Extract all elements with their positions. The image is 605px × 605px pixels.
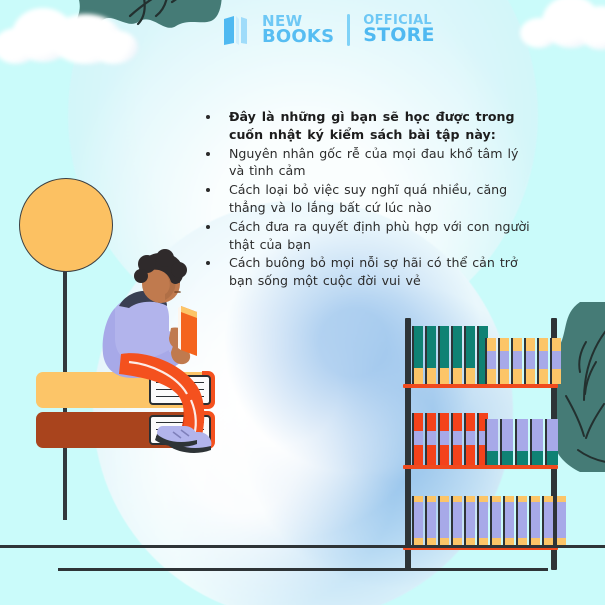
brand-name: NEW BOOKS [262, 15, 334, 46]
poster-canvas: NEW BOOKS OFFICIAL STORE Đây là những gì… [0, 0, 605, 605]
list-item-text: Đây là những gì bạn sẽ học được trong cu… [229, 108, 538, 144]
shelf-middle-group-1 [412, 413, 490, 465]
list-item: Cách buông bỏ mọi nỗi sợ hãi có thể cản … [198, 254, 538, 290]
list-item: Cách loại bỏ việc suy nghĩ quá nhiều, că… [198, 181, 538, 217]
benefits-list: Đây là những gì bạn sẽ học được trong cu… [198, 108, 538, 291]
cloud-top-right [520, 0, 605, 60]
shelf-post-left [405, 318, 411, 570]
list-item: Cách đưa ra quyết định phù hợp với con n… [198, 218, 538, 254]
shelf-top-group-2 [485, 338, 563, 384]
tag-line2: STORE [363, 27, 434, 45]
list-item-text: Nguyên nhân gốc rễ của mọi đau khổ tâm l… [229, 145, 538, 181]
ground-line-near [58, 568, 548, 571]
bookshelf [400, 318, 560, 570]
bullet-marker-icon [198, 145, 229, 156]
shelf-middle-group-2 [485, 419, 560, 465]
brand-line2: BOOKS [262, 29, 334, 46]
logo-divider [347, 14, 350, 46]
shelf-top-group-1 [412, 326, 490, 384]
list-item-text: Cách buông bỏ mọi nỗi sợ hãi có thể cản … [229, 254, 538, 290]
official-store-tag: OFFICIAL STORE [363, 15, 434, 45]
list-item: Đây là những gì bạn sẽ học được trong cu… [198, 108, 538, 144]
bullet-marker-icon [198, 108, 229, 119]
list-item: Nguyên nhân gốc rễ của mọi đau khổ tâm l… [198, 145, 538, 181]
shelf-rail-middle [403, 465, 558, 469]
bullet-marker-icon [198, 218, 229, 229]
ground-line-far [0, 545, 605, 548]
shelf-rail-top [403, 384, 558, 388]
bullet-marker-icon [198, 181, 229, 192]
open-book-icon [222, 15, 249, 46]
shelf-bottom-group-1 [412, 496, 568, 546]
cloud-top-left [0, 6, 144, 68]
brand-logo[interactable]: NEW BOOKS OFFICIAL STORE [222, 14, 435, 46]
list-item-text: Cách loại bỏ việc suy nghĩ quá nhiều, că… [229, 181, 538, 217]
person-reading-illustration [85, 250, 220, 465]
list-item-text: Cách đưa ra quyết định phù hợp với con n… [229, 218, 538, 254]
